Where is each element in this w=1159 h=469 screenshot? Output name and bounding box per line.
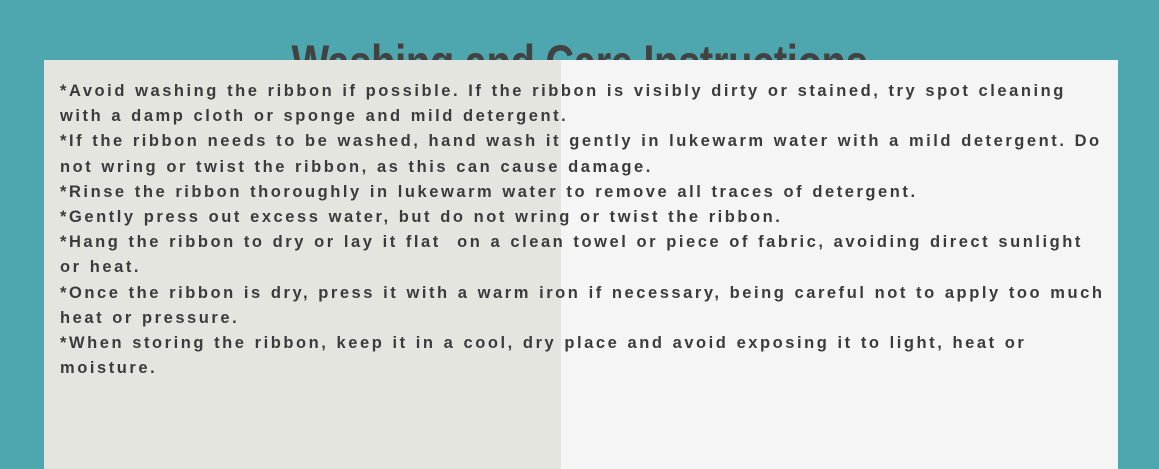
instructions-card: *Avoid washing the ribbon if possible. I… (44, 60, 1118, 469)
poster-canvas: Washing and Care Instructions *Avoid was… (0, 0, 1159, 469)
instructions-text-block: *Avoid washing the ribbon if possible. I… (60, 79, 1108, 381)
